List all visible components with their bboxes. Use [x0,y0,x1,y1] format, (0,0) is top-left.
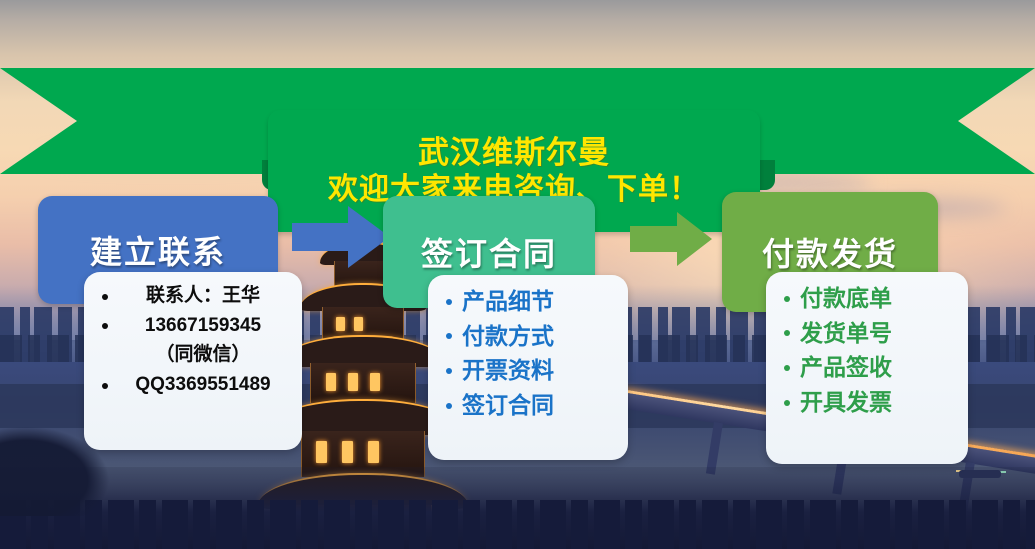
arrow-right-icon-2 [630,212,712,266]
step-1-details: 联系人：王华 13667159345 （同微信） QQ3369551489 [84,272,302,450]
list-item: 发货单号 [780,319,954,348]
company-name: 武汉维斯尔曼 [418,136,610,171]
pagoda-window [348,373,358,391]
poster-canvas: 武汉维斯尔曼 欢迎大家来电咨询、下单！ 建立联系 联系人：王华 13667159… [0,0,1035,549]
step-3-details: 付款底单 发货单号 产品签收 开具发票 [766,272,968,464]
pagoda-window [316,441,327,463]
list-item: 联系人：王华 [98,284,288,308]
list-item: 13667159345 [98,314,288,338]
pagoda-window [326,373,336,391]
list-item: 签订合同 [442,391,614,420]
ribbon-banner: 武汉维斯尔曼 欢迎大家来电咨询、下单！ [0,68,1035,174]
step-1-title: 建立联系 [90,227,226,273]
list-item: 产品签收 [780,353,954,382]
step-2-details: 产品细节 付款方式 开票资料 签订合同 [428,275,628,460]
step-2-list: 产品细节 付款方式 开票资料 签订合同 [442,287,614,419]
list-item: QQ3369551489 [98,373,288,397]
boat [959,470,1001,478]
pagoda-window [354,317,363,331]
pagoda-window [336,317,345,331]
step-2-title: 签订合同 [421,229,557,275]
pagoda-window [368,441,379,463]
step-3-title: 付款发货 [762,229,898,275]
pagoda-window [342,441,353,463]
list-item: 产品细节 [442,287,614,316]
pagoda-window [370,373,380,391]
arrow-right-icon-1 [292,206,390,268]
step-1-list: 联系人：王华 13667159345 （同微信） QQ3369551489 [98,284,288,396]
list-item: 付款方式 [442,322,614,351]
list-item: 付款底单 [780,284,954,313]
list-item: 开票资料 [442,356,614,385]
list-item: 开具发票 [780,388,954,417]
near-riverbank-buildings [0,500,1035,549]
step-3-list: 付款底单 发货单号 产品签收 开具发票 [780,284,954,416]
list-item: （同微信） [98,343,288,367]
